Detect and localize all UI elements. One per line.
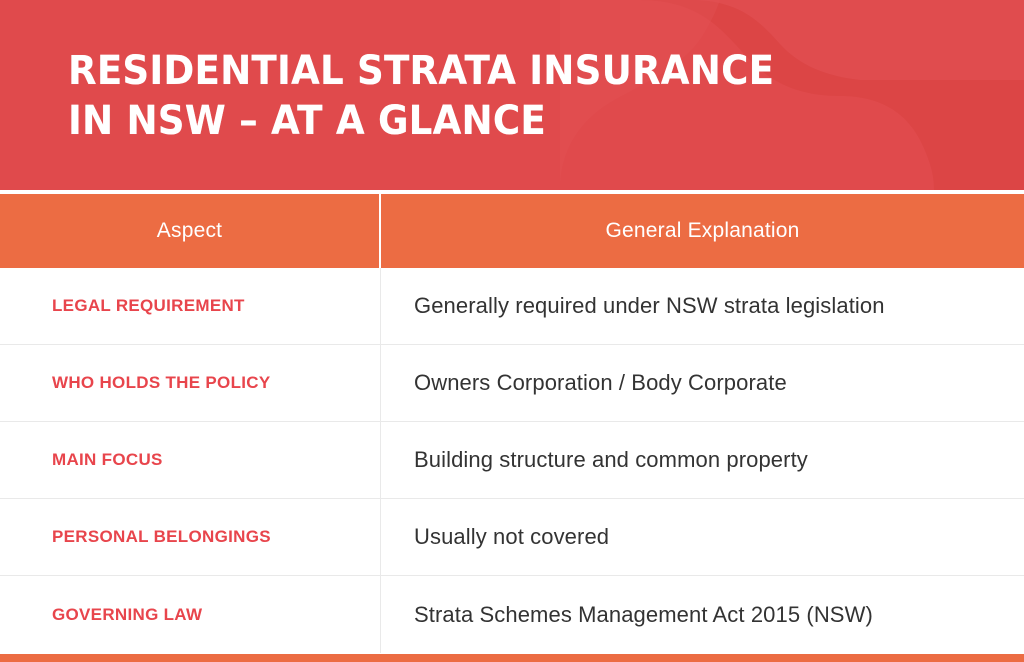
table-row: GOVERNING LAW Strata Schemes Management … [0,576,1024,653]
page-title: RESIDENTIAL STRATA INSURANCE IN NSW – AT… [68,46,774,146]
column-header-general-explanation: General Explanation [381,194,1024,268]
table-row: MAIN FOCUS Building structure and common… [0,422,1024,499]
cell-aspect-legal-requirement: LEGAL REQUIREMENT [0,268,381,344]
bottom-accent-bar [0,654,1024,662]
header-banner: RESIDENTIAL STRATA INSURANCE IN NSW – AT… [0,0,1024,190]
summary-table: Aspect General Explanation LEGAL REQUIRE… [0,190,1024,653]
cell-explanation-who-holds-the-policy: Owners Corporation / Body Corporate [381,345,1024,421]
infographic-root: RESIDENTIAL STRATA INSURANCE IN NSW – AT… [0,0,1024,662]
cell-explanation-legal-requirement: Generally required under NSW strata legi… [381,268,1024,344]
cell-aspect-governing-law: GOVERNING LAW [0,576,381,653]
column-header-aspect: Aspect [0,194,381,268]
table-header-row: Aspect General Explanation [0,190,1024,268]
cell-explanation-governing-law: Strata Schemes Management Act 2015 (NSW) [381,576,1024,653]
table-row: LEGAL REQUIREMENT Generally required und… [0,268,1024,345]
table-row: WHO HOLDS THE POLICY Owners Corporation … [0,345,1024,422]
cell-explanation-main-focus: Building structure and common property [381,422,1024,498]
cell-aspect-personal-belongings: PERSONAL BELONGINGS [0,499,381,575]
cell-explanation-personal-belongings: Usually not covered [381,499,1024,575]
table-row: PERSONAL BELONGINGS Usually not covered [0,499,1024,576]
cell-aspect-who-holds-the-policy: WHO HOLDS THE POLICY [0,345,381,421]
cell-aspect-main-focus: MAIN FOCUS [0,422,381,498]
